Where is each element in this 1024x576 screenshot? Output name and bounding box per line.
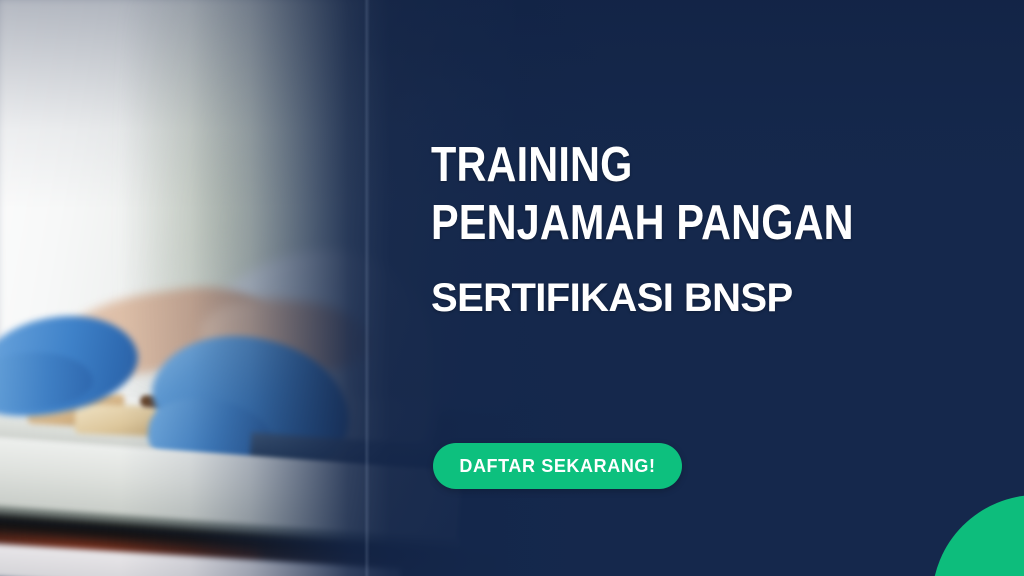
promo-banner: TRAINING PENJAMAH PANGAN SERTIFIKASI BNS… [0,0,1024,576]
headline-block: TRAINING PENJAMAH PANGAN SERTIFIKASI BNS… [431,136,991,324]
headline-line-3: SERTIFIKASI BNSP [431,272,991,324]
headline-line-2: PENJAMAH PANGAN [431,194,904,252]
banner-content: TRAINING PENJAMAH PANGAN SERTIFIKASI BNS… [0,0,1024,576]
register-now-button[interactable]: DAFTAR SEKARANG! [433,443,682,489]
headline-line-1: TRAINING [431,136,904,194]
decorative-green-circle [932,495,1024,576]
